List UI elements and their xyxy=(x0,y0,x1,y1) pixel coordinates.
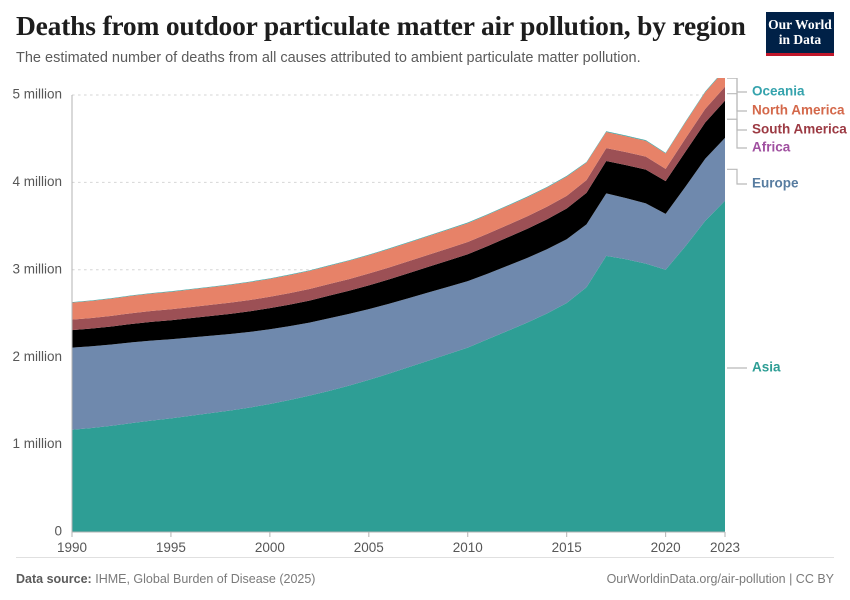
y-axis-tick-label: 5 million xyxy=(12,87,62,102)
y-axis-tick-label: 3 million xyxy=(12,261,62,276)
x-axis-tick-label: 2015 xyxy=(552,540,582,555)
page-title: Deaths from outdoor particulate matter a… xyxy=(16,10,834,42)
legend-label-asia[interactable]: Asia xyxy=(752,360,781,375)
legend-connector-europe xyxy=(727,169,747,184)
data-source-label: Data source: xyxy=(16,572,92,586)
x-axis-tick-label: 2000 xyxy=(255,540,285,555)
x-axis-tick-label: 2005 xyxy=(354,540,384,555)
x-axis-tick-label: 2020 xyxy=(651,540,681,555)
x-axis-tick-label: 1995 xyxy=(156,540,186,555)
owid-logo-rule xyxy=(766,53,834,56)
legend-label-oceania[interactable]: Oceania xyxy=(752,84,805,99)
x-axis-tick-label: 2010 xyxy=(453,540,483,555)
chart-area: 01 million2 million3 million4 million5 m… xyxy=(0,78,850,556)
owid-chart-page: Deaths from outdoor particulate matter a… xyxy=(0,0,850,600)
y-axis-tick-label: 4 million xyxy=(12,174,62,189)
owid-logo-line2: in Data xyxy=(766,32,834,47)
owid-logo[interactable]: Our World in Data xyxy=(766,12,834,56)
y-axis-tick-label: 2 million xyxy=(12,349,62,364)
y-axis-tick-label: 1 million xyxy=(12,436,62,451)
data-source-value: IHME, Global Burden of Disease (2025) xyxy=(95,572,315,586)
data-source: Data source: IHME, Global Burden of Dise… xyxy=(16,572,315,586)
chart-footer: Data source: IHME, Global Burden of Dise… xyxy=(16,557,834,600)
page-subtitle: The estimated number of deaths from all … xyxy=(16,49,834,68)
legend-label-africa[interactable]: Africa xyxy=(752,140,791,155)
stacked-area-chart[interactable]: 01 million2 million3 million4 million5 m… xyxy=(0,78,850,556)
y-axis-tick-label: 0 xyxy=(54,524,62,539)
legend-label-south-america[interactable]: South America xyxy=(752,122,847,137)
chart-header: Deaths from outdoor particulate matter a… xyxy=(16,10,834,74)
x-axis-tick-label: 2023 xyxy=(710,540,740,555)
attribution-link[interactable]: OurWorldinData.org/air-pollution | CC BY xyxy=(607,572,834,586)
owid-logo-line1: Our World xyxy=(766,17,834,32)
legend-label-europe[interactable]: Europe xyxy=(752,176,799,191)
x-axis-tick-label: 1990 xyxy=(57,540,87,555)
legend-label-north-america[interactable]: North America xyxy=(752,103,845,118)
legend-connector-africa xyxy=(727,119,747,148)
